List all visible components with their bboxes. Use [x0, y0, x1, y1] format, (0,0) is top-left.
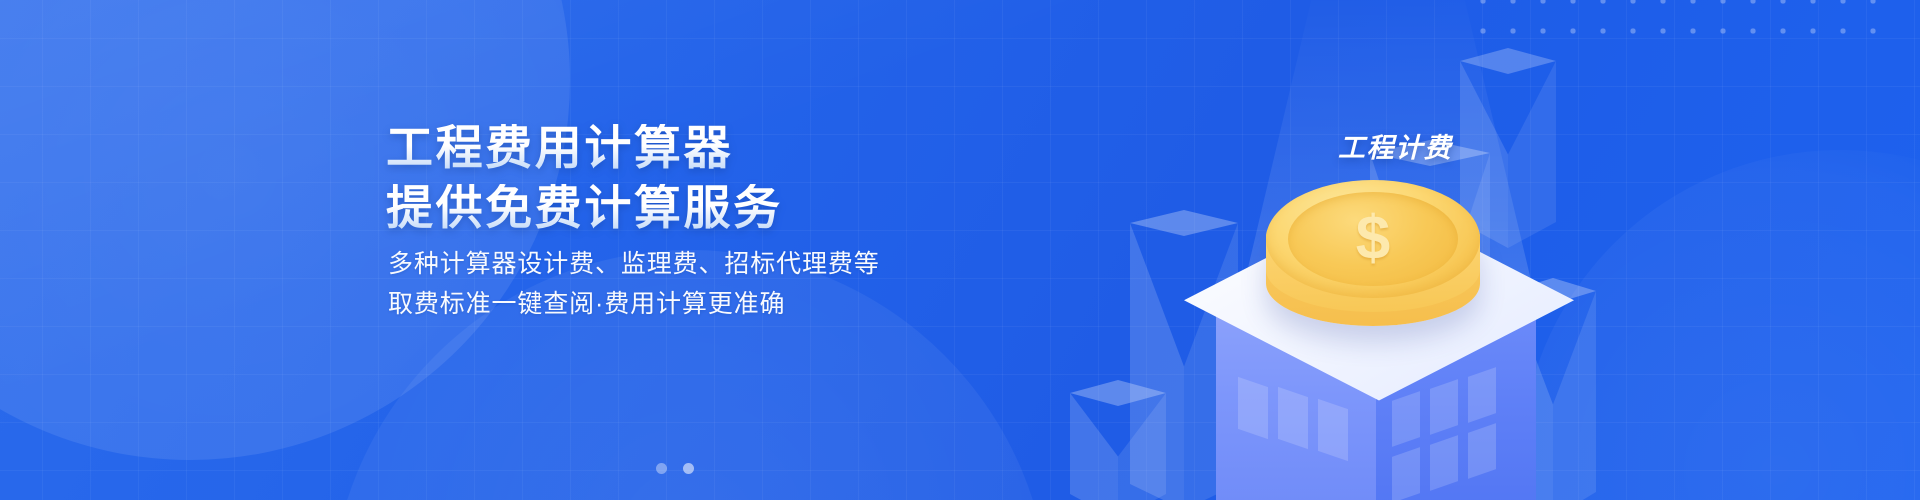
bar-face-left [1070, 393, 1118, 500]
subtitle-line-2: 取费标准一键查阅·费用计算更准确 [388, 292, 785, 317]
skyline-bar-corner [1070, 380, 1166, 500]
banner-illustration: $ 工程计费 [1080, 0, 1640, 500]
carousel-dot-1[interactable] [656, 463, 667, 474]
bar-face-right [1118, 393, 1166, 500]
banner-copy: 工程费用计算器 提供免费计算服务 多种计算器设计费、监理费、招标代理费等 取费标… [386, 0, 1086, 500]
headline-line-1: 工程费用计算器 [386, 124, 733, 171]
promo-banner: 工程费用计算器 提供免费计算服务 多种计算器设计费、监理费、招标代理费等 取费标… [0, 0, 1920, 500]
illustration-badge-label: 工程计费 [1338, 126, 1452, 165]
building-window [1392, 447, 1420, 500]
building-window [1468, 423, 1496, 479]
dollar-sign-icon: $ [1266, 208, 1480, 270]
bar-face-top [1460, 48, 1556, 74]
subtitle-line-1: 多种计算器设计费、监理费、招标代理费等 [388, 252, 880, 277]
building-window [1430, 435, 1458, 491]
bar-face-top [1070, 380, 1166, 406]
carousel-indicators[interactable] [656, 463, 694, 474]
carousel-dot-2[interactable] [683, 463, 694, 474]
gold-coin-icon: $ [1266, 180, 1480, 355]
coin-face: $ [1266, 180, 1480, 298]
headline-line-2: 提供免费计算服务 [386, 184, 783, 231]
